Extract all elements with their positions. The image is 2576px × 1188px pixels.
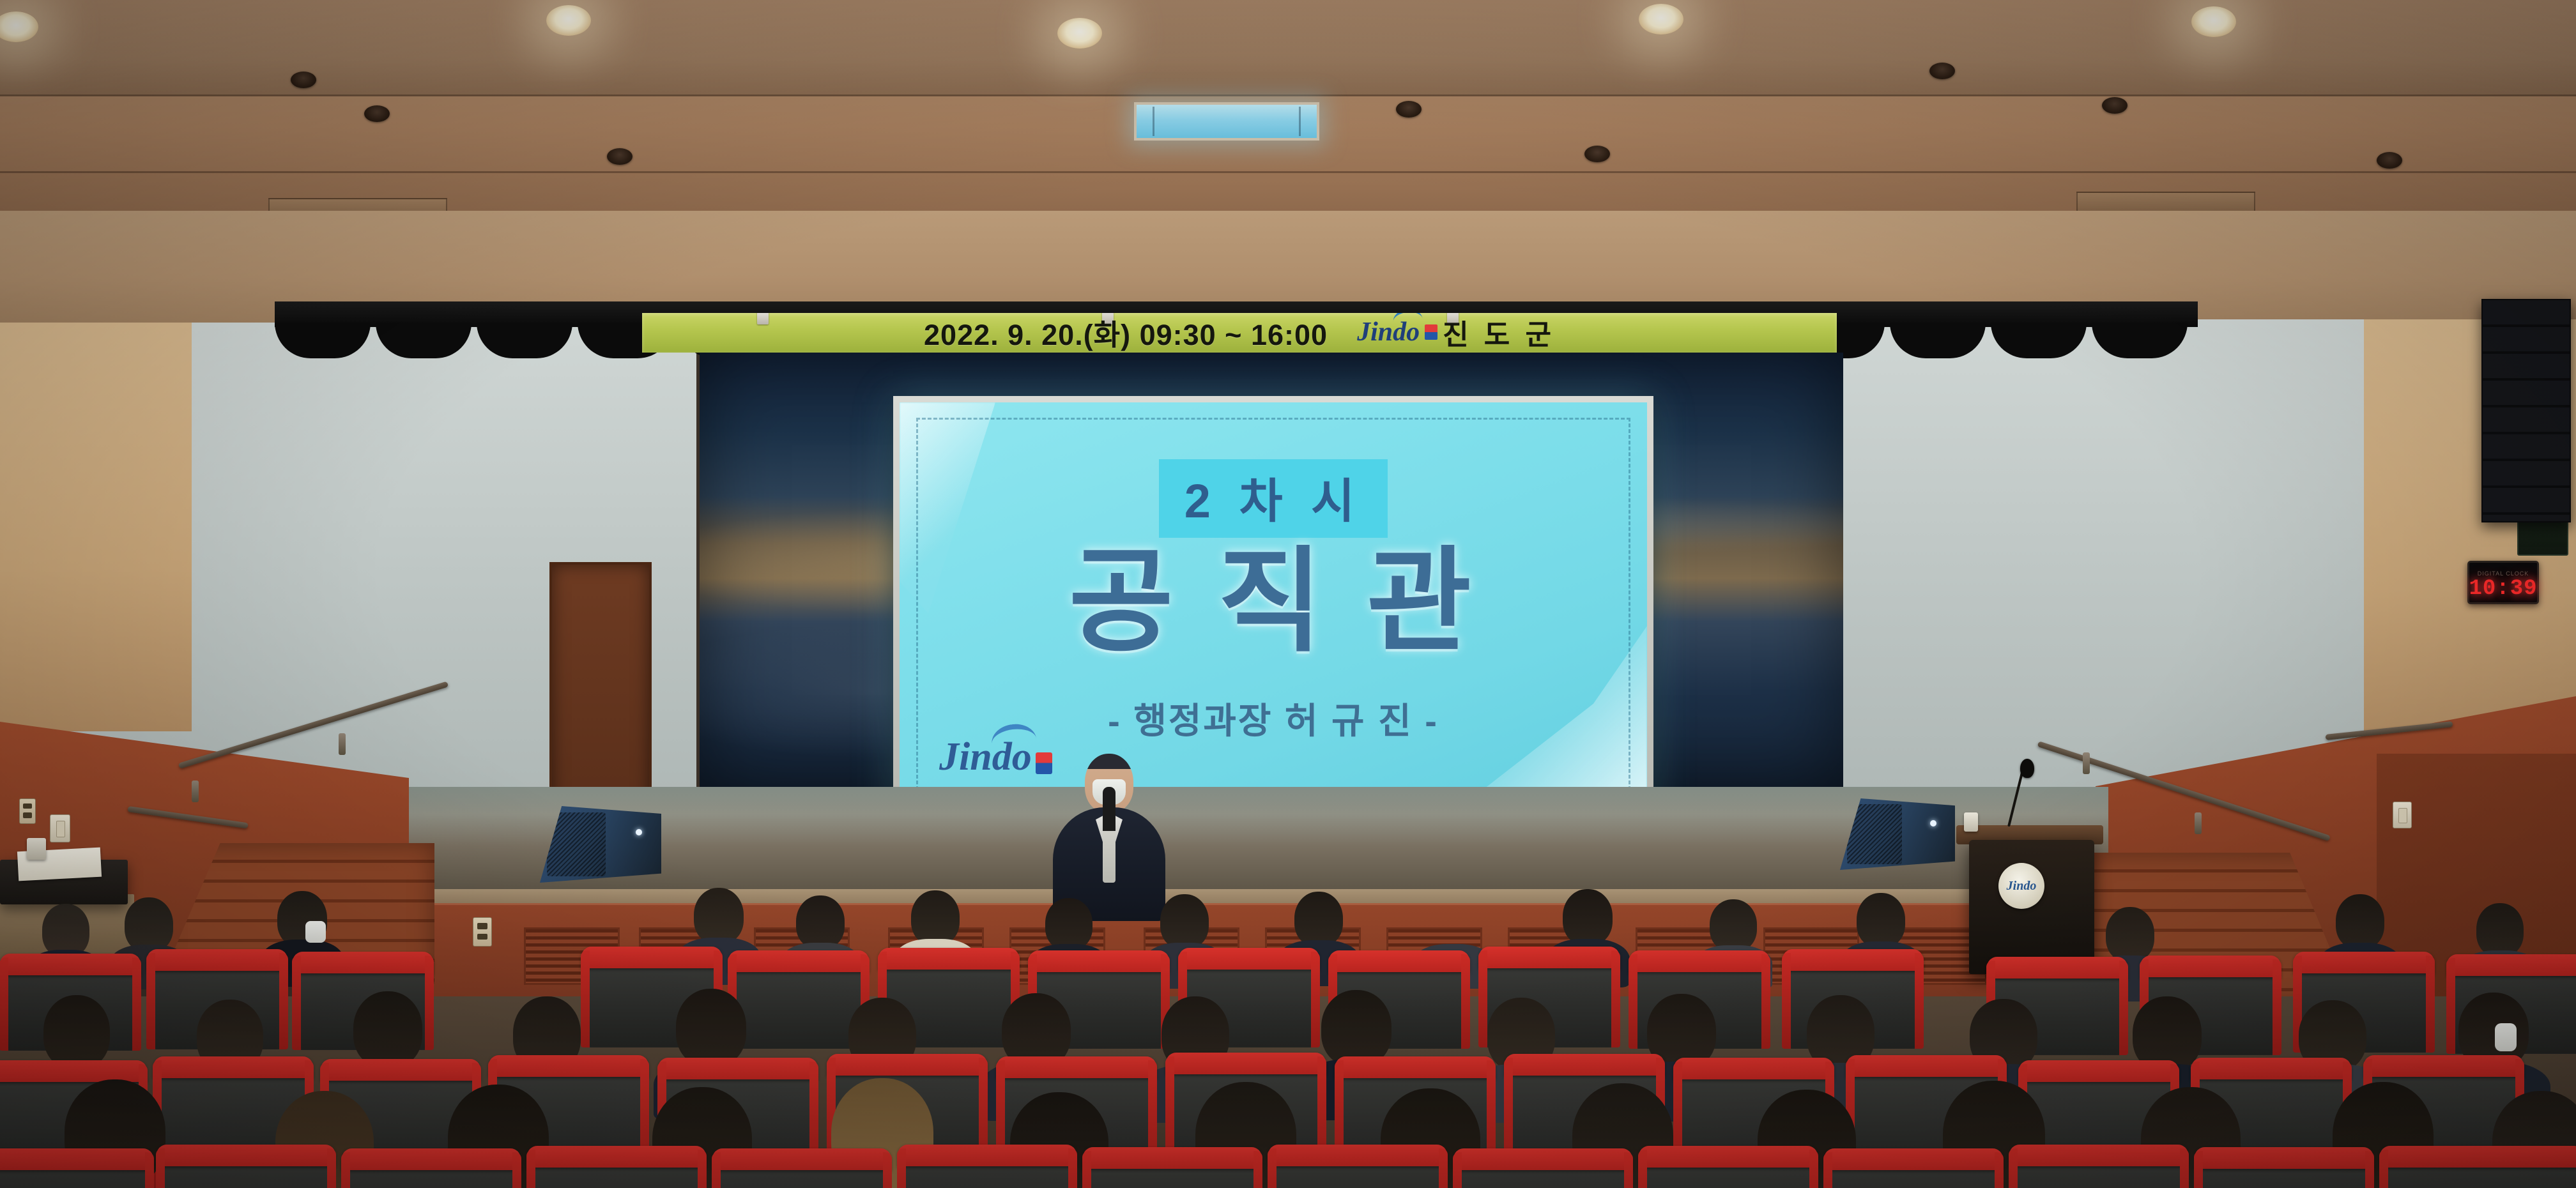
banner-jindo-logo: Jindo — [1357, 317, 1420, 347]
wall-tan-left — [0, 323, 192, 731]
slide-jindo-logo: Jindo — [939, 737, 1052, 777]
theater-seat[interactable] — [1460, 1156, 1626, 1188]
ceiling-light-panel — [1134, 102, 1319, 141]
theater-seat[interactable] — [719, 1156, 885, 1188]
light-switch-icon[interactable] — [50, 814, 70, 842]
side-door-left[interactable] — [549, 562, 652, 811]
downlight-icon — [546, 5, 591, 36]
ceiling-speaker-icon — [607, 148, 632, 165]
microphone-head-icon — [2020, 759, 2034, 778]
ceiling-speaker-icon — [2102, 97, 2127, 114]
ceiling-speaker-icon — [1929, 63, 1955, 79]
banner-date-time: 2022. 9. 20.(화) 09:30 ~ 16:00 — [924, 313, 1328, 353]
theater-seat[interactable] — [2016, 1152, 2182, 1188]
auditorium-photo: DIGITAL CLOCK 10:39 2022. 9. 20.(화) 09:3… — [0, 0, 2576, 1188]
ceiling-speaker-icon — [1584, 146, 1610, 162]
banner-brand: Jindo 진 도 군 — [1357, 313, 1555, 353]
theater-seat[interactable] — [1645, 1154, 1811, 1188]
ceiling-speaker-icon — [2377, 152, 2402, 169]
banner-clip — [757, 313, 769, 324]
event-banner: 2022. 9. 20.(화) 09:30 ~ 16:00 Jindo 진 도 … — [642, 313, 1837, 353]
light-switch-icon[interactable] — [2393, 802, 2412, 828]
jindo-mark-icon — [1425, 324, 1437, 340]
theater-seat[interactable] — [0, 1156, 147, 1188]
slide-kicker-text: 2 차 시 — [1184, 475, 1362, 528]
ceiling-band-1 — [0, 0, 2576, 96]
slide-title: 공 직 관 — [1069, 542, 1478, 662]
clock-caption: DIGITAL CLOCK — [2478, 570, 2529, 577]
ceiling-speaker-icon — [364, 105, 390, 122]
speaker-led — [1930, 820, 1936, 826]
slide-subtitle: - 행정과장 허 규 진 - — [1108, 692, 1439, 744]
handrail-post — [192, 781, 199, 802]
handrail-post — [339, 733, 346, 755]
projection-screen: 2 차 시 공 직 관 - 행정과장 허 규 진 - Jindo — [900, 402, 1647, 811]
line-array-speaker-icon — [2481, 299, 2571, 522]
theater-seat[interactable]: 14 — [1275, 1152, 1441, 1188]
face-mask — [305, 921, 326, 943]
ceiling-speaker-icon — [1396, 101, 1422, 118]
podium-water-cup — [1964, 812, 1978, 832]
theater-seat[interactable] — [904, 1152, 1070, 1188]
presenter-handheld-microphone-icon — [1103, 787, 1115, 883]
theater-seat[interactable] — [348, 1156, 514, 1188]
projection-screen-frame: 2 차 시 공 직 관 - 행정과장 허 규 진 - Jindo — [893, 396, 1653, 818]
face-mask — [2495, 1023, 2517, 1051]
theater-seat[interactable] — [2386, 1154, 2576, 1188]
slide-kicker-box: 2 차 시 — [1159, 459, 1388, 538]
banner-org-name: 진 도 군 — [1443, 313, 1555, 353]
downlight-icon — [2191, 6, 2236, 37]
downlight-icon — [1057, 18, 1102, 49]
theater-seat[interactable] — [163, 1152, 329, 1188]
handrail-post — [2195, 812, 2202, 834]
speaker-led — [636, 829, 642, 835]
wall-outlet-icon — [19, 798, 36, 824]
wall-digital-clock: DIGITAL CLOCK 10:39 — [2467, 561, 2539, 604]
audience-seating: 10 11 14 12 13 15 16 11 — [0, 888, 2576, 1188]
theater-seat[interactable]: 11 — [1089, 1155, 1255, 1188]
ceiling-seam-1 — [0, 95, 2576, 96]
ceiling-seam-2 — [0, 171, 2576, 173]
theater-seat[interactable] — [533, 1154, 700, 1188]
slide-logo-text: Jindo — [939, 737, 1032, 777]
theater-seat[interactable] — [2201, 1155, 2367, 1188]
theater-seat[interactable] — [1830, 1156, 1997, 1188]
desk-device — [27, 838, 46, 860]
downlight-icon — [1639, 4, 1683, 34]
handrail-post — [2083, 752, 2090, 774]
ceiling-speaker-icon — [291, 72, 316, 88]
jindo-mark-icon — [1036, 752, 1052, 774]
clock-digits: 10:39 — [2469, 578, 2537, 600]
